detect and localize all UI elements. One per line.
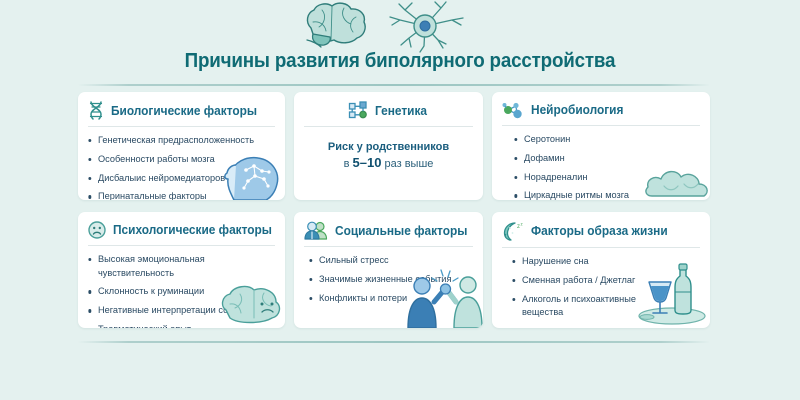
dna-icon [88, 101, 104, 120]
statement-suffix: раз выше [381, 158, 433, 170]
card-header: Психологические факторы [78, 212, 285, 245]
list-item: Конфликты и потери [319, 292, 468, 306]
cards-grid: Биологические факторы Генетическая предр… [78, 92, 710, 334]
card-title: Генетика [375, 104, 427, 118]
card-header: Генетика [294, 92, 483, 126]
speed-lines-right-icon [500, 22, 632, 33]
card-header: Биологические факторы [78, 92, 285, 126]
card-title: Социальные факторы [335, 224, 467, 238]
list-item: Серотонин [524, 133, 694, 147]
list-item: Алкоголь и психоактивные вещества [522, 293, 637, 320]
list-item: Дофамин [524, 152, 694, 166]
card-lifestyle[interactable]: z z Факторы образа жизни Нарушение сна С… [492, 212, 710, 328]
card-title: Нейробиология [531, 103, 623, 117]
bullet-list: Сильный стресс Значимые жизненные событи… [294, 247, 483, 305]
card-header: Социальные факторы [294, 212, 483, 246]
card-psychological[interactable]: Психологические факторы Высокая эмоциона… [78, 212, 285, 328]
svg-text:z: z [521, 222, 524, 227]
statement-prefix: в [344, 158, 353, 170]
statement-line-1: Риск у родственников [304, 139, 473, 155]
page-title: Причины развития биполярного расстройств… [24, 50, 776, 73]
list-item: Значимые жизненные события [319, 273, 468, 287]
list-item: Высокая эмоциональная чувствительность [98, 253, 269, 280]
pedigree-icon [348, 101, 368, 120]
list-item: Особенности работы мозга [98, 153, 269, 167]
neuron-icon [390, 2, 463, 52]
list-item: Нарушение сна [522, 255, 637, 269]
bullet-list: Генетическая предрасположенность Особенн… [78, 127, 285, 200]
statement-value: 5–10 [353, 155, 382, 170]
list-item: Перинатальные факторы [98, 190, 269, 200]
brain-icon [307, 3, 365, 47]
moon-sleep-icon: z z [502, 221, 524, 241]
statement-line-2: в 5–10 раз выше [304, 155, 473, 172]
list-item: Генетическая предрасположенность [98, 134, 269, 148]
card-header: Нейробиология [492, 92, 710, 125]
card-genetics[interactable]: Генетика Риск у родственников в 5–10 раз… [294, 92, 483, 200]
list-item: Циркадные ритмы мозга [524, 189, 694, 200]
header-illustration [0, 0, 800, 52]
list-item: Дисбалыис нейромедиаторов [98, 172, 269, 186]
infographic-canvas: Причины развития биполярного расстройств… [0, 0, 800, 400]
list-item: Травматический опыт [98, 323, 269, 328]
card-header: z z Факторы образа жизни [492, 212, 710, 247]
list-item: Сильный стресс [319, 254, 468, 268]
divider-bottom [78, 341, 710, 343]
list-item: Негативные интерпретации событий [98, 304, 269, 318]
card-title: Психологические факторы [113, 223, 272, 237]
list-item: Норадреналин [524, 171, 694, 185]
molecule-icon [502, 101, 524, 119]
card-title: Биологические факторы [111, 104, 257, 118]
speed-lines-left-icon [170, 22, 302, 33]
bullet-list: Высокая эмоциональная чувствительность С… [78, 246, 285, 328]
bullet-list: Нарушение сна Сменная работа / Джетлаг А… [492, 248, 710, 320]
card-social[interactable]: Социальные факторы Сильный стресс Значим… [294, 212, 483, 328]
bullet-list: Серотонин Дофамин Норадреналин Циркадные… [492, 126, 710, 200]
genetics-statement: Риск у родственников в 5–10 раз выше [294, 127, 483, 172]
list-item: Склонность к руминации [98, 285, 269, 299]
card-title: Факторы образа жизни [531, 224, 668, 238]
list-item: Сменная работа / Джетлаг [522, 274, 637, 288]
card-neurobiology[interactable]: Нейробиология Серотонин Дофамин Норадрен… [492, 92, 710, 200]
two-people-icon [304, 221, 328, 240]
divider-top [78, 84, 710, 86]
sad-face-icon [88, 221, 106, 239]
card-biological[interactable]: Биологические факторы Генетическая предр… [78, 92, 285, 200]
